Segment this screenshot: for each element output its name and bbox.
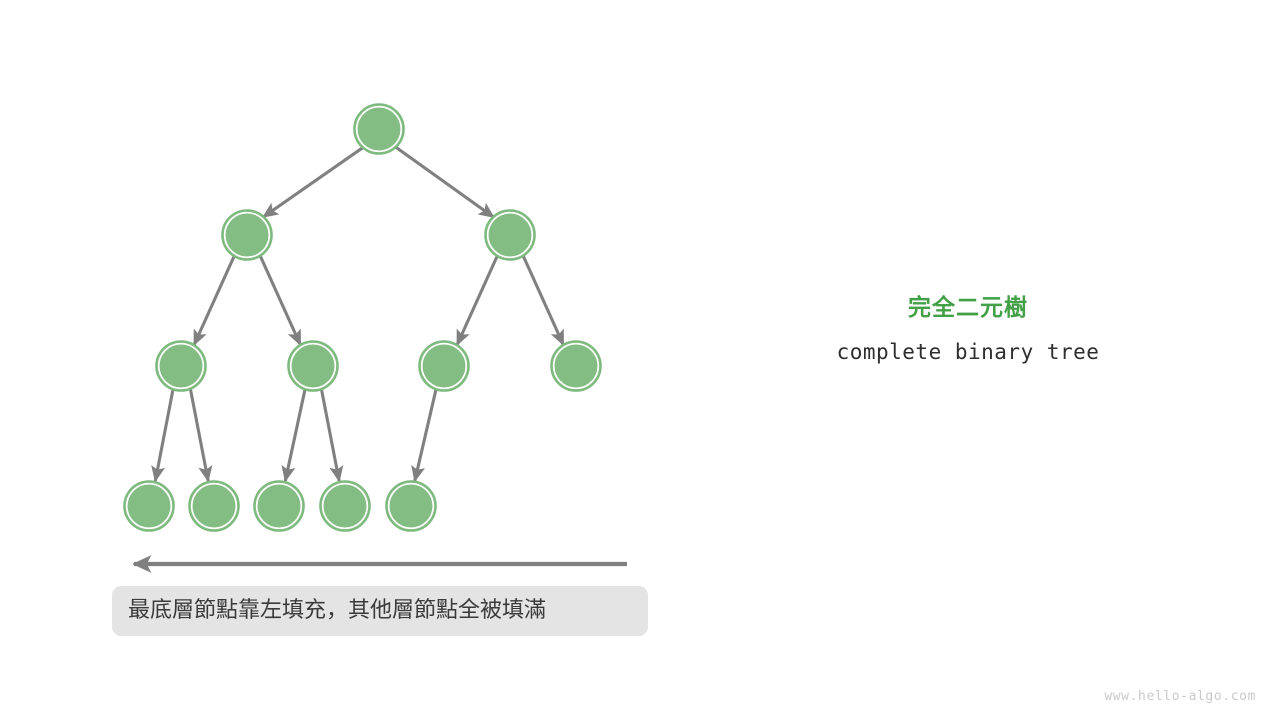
tree-edge (397, 148, 493, 217)
tree-edge-group (156, 148, 564, 480)
tree-node-leaf[interactable] (386, 481, 436, 531)
tree-edge (261, 257, 301, 345)
tree-edge (286, 390, 306, 481)
legend-title: 完全二元樹 (790, 292, 1146, 322)
tree-edge (458, 257, 498, 345)
watermark: www.hello-algo.com (1104, 689, 1256, 704)
complete-binary-tree-diagram: 完全二元樹 complete binary tree 最底層節點靠左填充，其他層… (0, 0, 1280, 720)
caption-box: 最底層節點靠左填充，其他層節點全被填滿 (112, 586, 648, 636)
tree-edge (191, 390, 209, 481)
tree-node[interactable] (288, 341, 338, 391)
tree-node[interactable] (485, 210, 535, 260)
tree-edge (524, 257, 564, 345)
tree-edge (156, 390, 174, 481)
tree-node-leaf[interactable] (254, 481, 304, 531)
tree-node[interactable] (419, 341, 469, 391)
tree-node-leaf[interactable] (189, 481, 239, 531)
tree-node-leaf[interactable] (320, 481, 370, 531)
tree-edge (195, 257, 235, 345)
tree-node-group (124, 104, 601, 531)
legend-subtitle: complete binary tree (790, 338, 1146, 366)
tree-node[interactable] (551, 341, 601, 391)
legend: 完全二元樹 complete binary tree (790, 292, 1146, 366)
tree-node[interactable] (156, 341, 206, 391)
caption-text: 最底層節點靠左填充，其他層節點全被填滿 (128, 595, 632, 625)
tree-node-root[interactable] (354, 104, 404, 154)
tree-edge (322, 390, 340, 481)
tree-node-leaf[interactable] (124, 481, 174, 531)
tree-edge (415, 390, 436, 481)
tree-edge (264, 148, 362, 216)
tree-node[interactable] (222, 210, 272, 260)
